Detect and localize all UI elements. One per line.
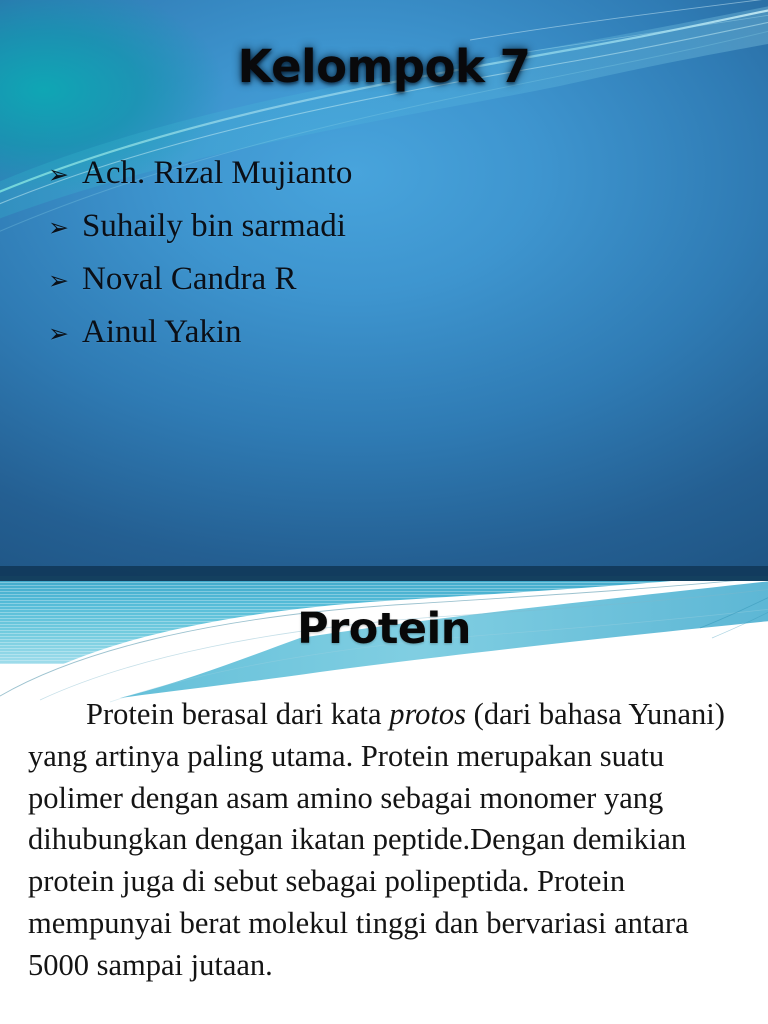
presentation-deck: Kelompok 7 ➢ Ach. Rizal Mujianto ➢ Suhai… xyxy=(0,0,768,1024)
member-list: ➢ Ach. Rizal Mujianto ➢ Suhaily bin sarm… xyxy=(48,152,668,364)
paragraph-segment-one: Protein berasal dari kata xyxy=(86,697,389,731)
slide-one-title: Kelompok 7 xyxy=(0,40,768,93)
arrow-bullet-icon: ➢ xyxy=(48,215,82,240)
list-item: ➢ Noval Candra R xyxy=(48,258,668,302)
arrow-bullet-icon: ➢ xyxy=(48,321,82,346)
arrow-bullet-icon: ➢ xyxy=(48,162,82,187)
list-item: ➢ Ach. Rizal Mujianto xyxy=(48,152,668,196)
member-name: Ach. Rizal Mujianto xyxy=(82,152,668,196)
member-name: Noval Candra R xyxy=(82,258,668,302)
member-name: Suhaily bin sarmadi xyxy=(82,205,668,249)
arrow-bullet-icon: ➢ xyxy=(48,268,82,293)
paragraph-italic-term: protos xyxy=(389,697,466,731)
slide-two-title: Protein xyxy=(0,604,768,654)
slide-content-protein: Protein Protein berasal dari kata protos… xyxy=(0,576,768,1024)
list-item: ➢ Suhaily bin sarmadi xyxy=(48,205,668,249)
slide-two-paragraph: Protein berasal dari kata protos (dari b… xyxy=(28,694,744,986)
slide-title-kelompok: Kelompok 7 ➢ Ach. Rizal Mujianto ➢ Suhai… xyxy=(0,0,768,576)
list-item: ➢ Ainul Yakin xyxy=(48,311,668,355)
paragraph-segment-two: (dari bahasa Yunani) yang artinya paling… xyxy=(28,697,725,982)
member-name: Ainul Yakin xyxy=(82,311,668,355)
